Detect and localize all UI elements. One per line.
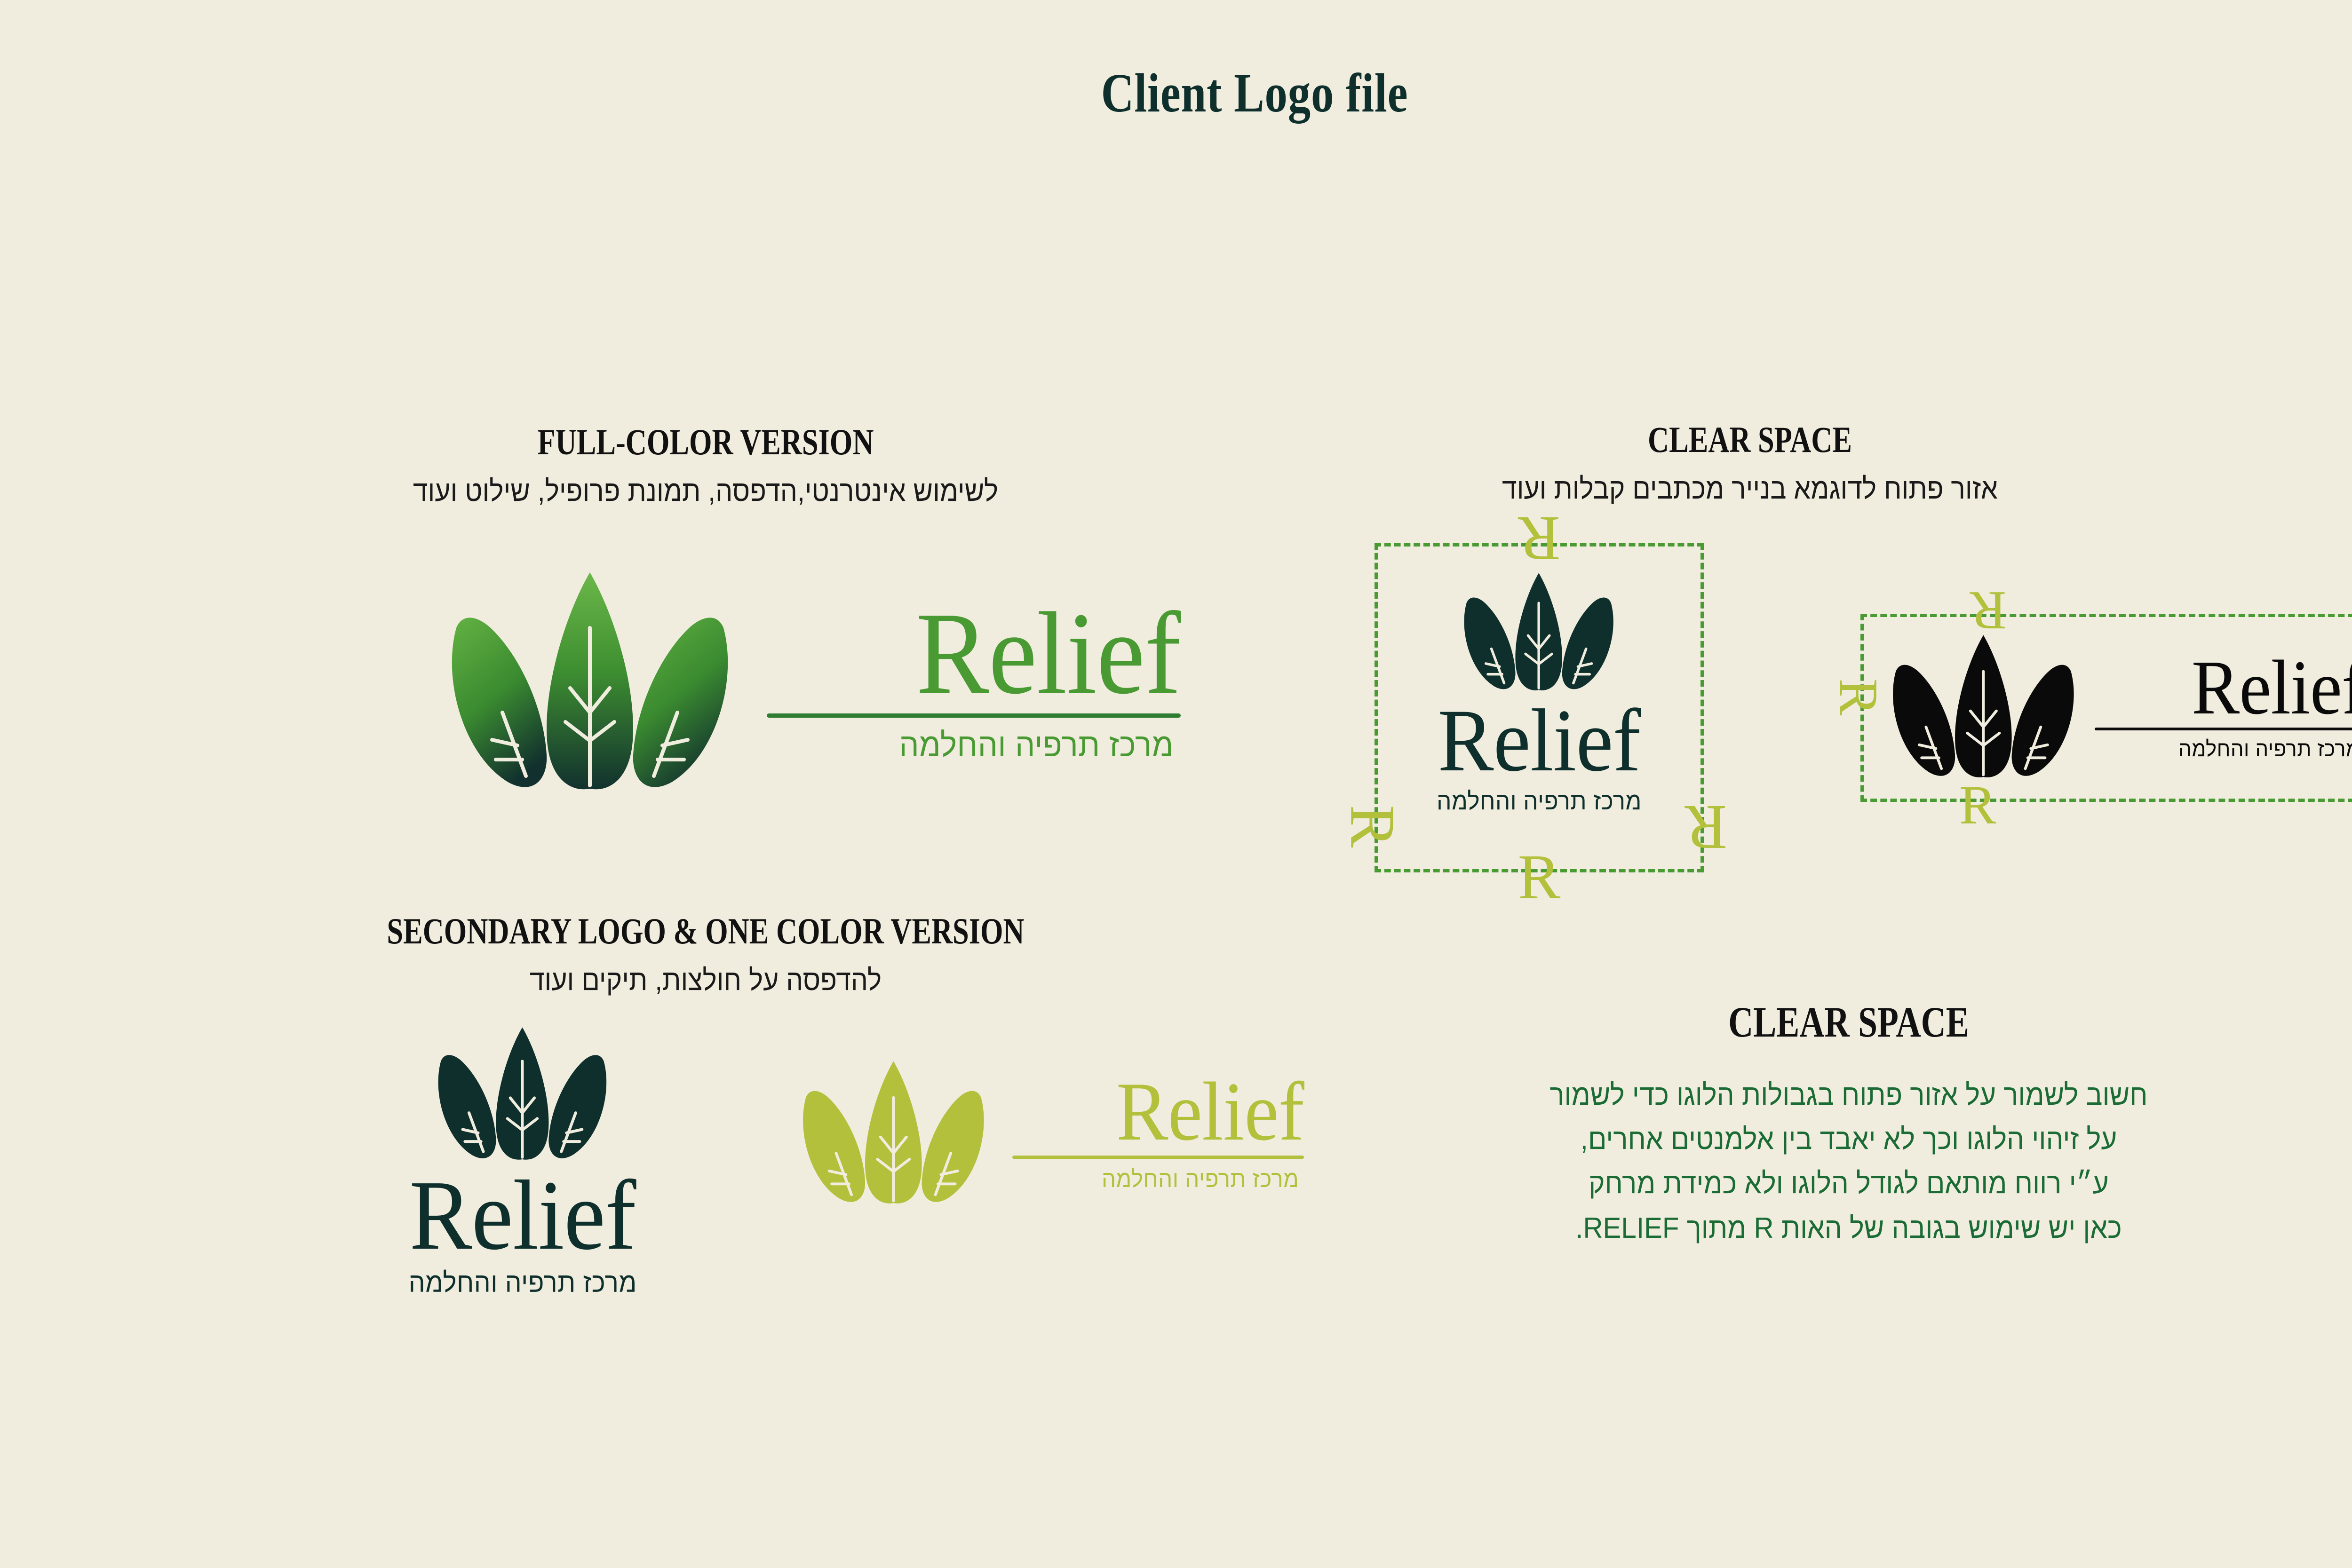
wordmark-relief: Relief	[1116, 1072, 1304, 1151]
clear-space-marker-r-right: R	[1685, 795, 1727, 859]
section-secondary-logo: SECONDARY LOGO & ONE COLOR VERSION להדפס…	[179, 910, 1232, 997]
section-clear-space-top: CLEAR SPACE אזור פתוח לדוגמא בנייר מכתבי…	[1364, 419, 2136, 506]
secondary-heading: SECONDARY LOGO & ONE COLOR VERSION	[284, 910, 1127, 952]
wordmark-tagline: מרכז תרפיה והחלמה	[899, 726, 1174, 764]
clear-space-marker-r-top: R	[1518, 507, 1561, 570]
clear-space-note-line-3: ע״י רווח מותאם לגודל הלוגו ולא כמידת מרח…	[1438, 1162, 2260, 1206]
clear-space-marker-r-bottom: R	[1518, 845, 1561, 909]
section-clear-space-note: CLEAR SPACE חשוב לשמור על אזור פתוח בגבו…	[1411, 997, 2286, 1251]
clear-space-marker-r-left: R	[1340, 805, 1404, 848]
clear-space-marker-r-left: R	[1830, 679, 1886, 716]
clear-space-note-line-4: כאן יש שימוש בגובה של האות R מתוך RELIEF…	[1438, 1206, 2260, 1251]
clear-space-frame-horizontal: R R R R Relief מרכז תרפיה והחלמה	[1860, 614, 2352, 802]
wordmark-relief: Relief	[1438, 698, 1641, 784]
clear-space-note-line-2: על זיהוי הלוגו וכך לא יאבד בין אלמנטים א…	[1438, 1117, 2260, 1162]
logo-secondary-stacked: Relief מרכז תרפיה והחלמה	[402, 1023, 643, 1299]
clear-space-heading: CLEAR SPACE	[1441, 419, 2058, 461]
leaf-mark-icon	[435, 1023, 610, 1164]
leaf-mark-icon	[1890, 634, 2078, 778]
full-color-heading: FULL-COLOR VERSION	[299, 421, 1112, 463]
clear-space-note-heading: CLEAR SPACE	[1499, 997, 2199, 1047]
clear-space-subtitle: אזור פתוח לדוגמא בנייר מכתבים קבלות ועוד	[1395, 472, 2105, 506]
leaf-mark-icon	[447, 571, 734, 790]
wordmark-relief: Relief	[916, 598, 1181, 710]
wordmark-tagline: מרכז תרפיה והחלמה	[1437, 787, 1642, 816]
clear-space-marker-r-top: R	[1970, 583, 2007, 638]
wordmark-tagline: מרכז תרפיה והחלמה	[1102, 1165, 1299, 1193]
clear-space-note-line-1: חשוב לשמור על אזור פתוח בגבולות הלוגו כד…	[1438, 1073, 2260, 1117]
section-full-color: FULL-COLOR VERSION לשימוש אינטרנטי,הדפסה…	[198, 421, 1214, 508]
wordmark-tagline: מרכז תרפיה והחלמה	[2178, 736, 2352, 761]
wordmark-relief: Relief	[2192, 651, 2352, 725]
logo-secondary-olive: Relief מרכז תרפיה והחלמה	[800, 1061, 1304, 1204]
brand-guideline-page: Client Logo file FULL-COLOR VERSION לשימ…	[0, 0, 2352, 1568]
logo-horizontal-black: Relief מרכז תרפיה והחלמה	[1890, 634, 2352, 778]
page-title: Client Logo file	[226, 61, 2283, 125]
clear-space-note-body: חשוב לשמור על אזור פתוח בגבולות הלוגו כד…	[1438, 1073, 2260, 1251]
clear-space-frame-stacked: R R R R Relief מרכז תרפיה והחלמה	[1375, 543, 1704, 872]
logo-full-color: Relief מרכז תרפיה והחלמה	[447, 571, 1181, 790]
logo-stacked-dark: Relief מרכז תרפיה והחלמה	[1431, 568, 1647, 816]
wordmark-relief: Relief	[409, 1168, 636, 1262]
clear-space-marker-r-bottom: R	[1959, 777, 1996, 833]
leaf-mark-icon	[1462, 568, 1617, 696]
secondary-subtitle: להדפסה על חולצות, תיקים ועוד	[221, 964, 1191, 997]
leaf-mark-icon	[800, 1061, 988, 1204]
wordmark-tagline: מרכז תרפיה והחלמה	[408, 1267, 636, 1299]
full-color-subtitle: לשימוש אינטרנטי,הדפסה, תמונת פרופיל, שיל…	[238, 475, 1173, 508]
